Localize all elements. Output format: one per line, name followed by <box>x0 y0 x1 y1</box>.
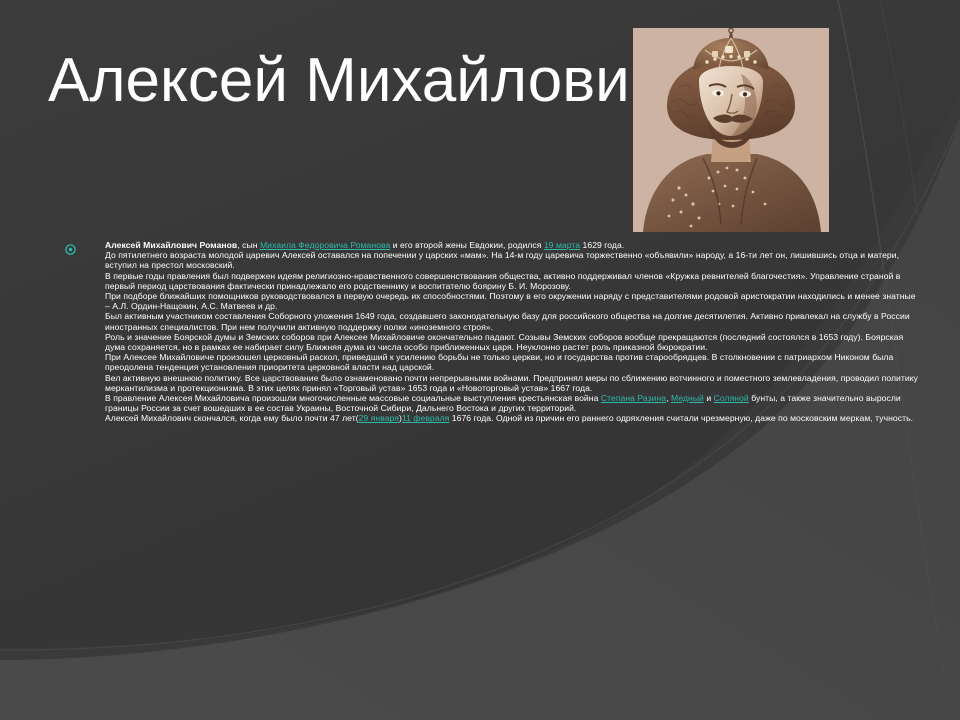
paragraph-text: Был активным участником составления Собо… <box>105 311 920 331</box>
text-run: и <box>704 393 714 403</box>
text-run: и его второй жены Евдокии, родился <box>390 240 544 250</box>
text-run: Был активным участником составления Собо… <box>105 311 910 331</box>
paragraph: Вел активную внешнюю политику. Все царст… <box>60 373 920 393</box>
text-run: При Алексее Михайловиче произошел церков… <box>105 352 893 372</box>
paragraph: Алексей Михайлович скончался, когда ему … <box>60 413 920 423</box>
hyperlink[interactable]: 11 февраля <box>402 413 449 423</box>
text-run: В правление Алексея Михайловича произошл… <box>105 393 601 403</box>
paragraph: До пятилетнего возраста молодой царевич … <box>60 250 920 270</box>
paragraph: В первые годы правления был подвержен ид… <box>60 271 920 291</box>
paragraph: В правление Алексея Михайловича произошл… <box>60 393 920 413</box>
bulleted-paragraph: Алексей Михайлович Романов, сын Михаила … <box>60 240 920 250</box>
text-run: Алексей Михайлович скончался, когда ему … <box>105 413 359 423</box>
paragraph-text: Алексей Михайлович скончался, когда ему … <box>105 413 920 423</box>
hyperlink[interactable]: Соляной <box>714 393 749 403</box>
text-run: Роль и значение Боярской думы и Земских … <box>105 332 903 352</box>
hyperlink[interactable]: 29 января <box>359 413 399 423</box>
text-run: В первые годы правления был подвержен ид… <box>105 271 900 291</box>
text-run: 1629 года. <box>580 240 624 250</box>
paragraph-text: В правление Алексея Михайловича произошл… <box>105 393 920 413</box>
text-run: 1676 года. Одной из причин его раннего о… <box>449 413 913 423</box>
paragraph-text: До пятилетнего возраста молодой царевич … <box>105 250 920 270</box>
portrait-engraving-icon <box>633 28 829 232</box>
paragraph-text: В первые годы правления был подвержен ид… <box>105 271 920 291</box>
content-text-block: Алексей Михайлович Романов, сын Михаила … <box>60 240 920 424</box>
text-run: До пятилетнего возраста молодой царевич … <box>105 250 899 270</box>
portrait-image <box>633 28 829 232</box>
slide-canvas: Алексей Михайлович <box>0 0 960 720</box>
paragraph-text: Вел активную внешнюю политику. Все царст… <box>105 373 920 393</box>
paragraph-text: Алексей Михайлович Романов, сын Михаила … <box>105 240 920 250</box>
paragraph: При подборе ближайших помощников руковод… <box>60 291 920 311</box>
paragraph-text: При Алексее Михайловиче произошел церков… <box>105 352 920 372</box>
paragraph-text: Роль и значение Боярской думы и Земских … <box>105 332 920 352</box>
hyperlink[interactable]: Степана Разина <box>601 393 666 403</box>
paragraph-text: При подборе ближайших помощников руковод… <box>105 291 920 311</box>
text-run: Вел активную внешнюю политику. Все царст… <box>105 373 918 393</box>
paragraph: Роль и значение Боярской думы и Земских … <box>60 332 920 352</box>
bold-text: Алексей Михайлович Романов <box>105 240 237 250</box>
hyperlink[interactable]: Михаила Федоровича Романова <box>260 240 390 250</box>
text-run: , сын <box>237 240 260 250</box>
paragraph: Был активным участником составления Собо… <box>60 311 920 331</box>
hyperlink[interactable]: Медный <box>671 393 704 403</box>
paragraph: При Алексее Михайловиче произошел церков… <box>60 352 920 372</box>
hyperlink[interactable]: 19 марта <box>544 240 580 250</box>
text-run: При подборе ближайших помощников руковод… <box>105 291 916 311</box>
